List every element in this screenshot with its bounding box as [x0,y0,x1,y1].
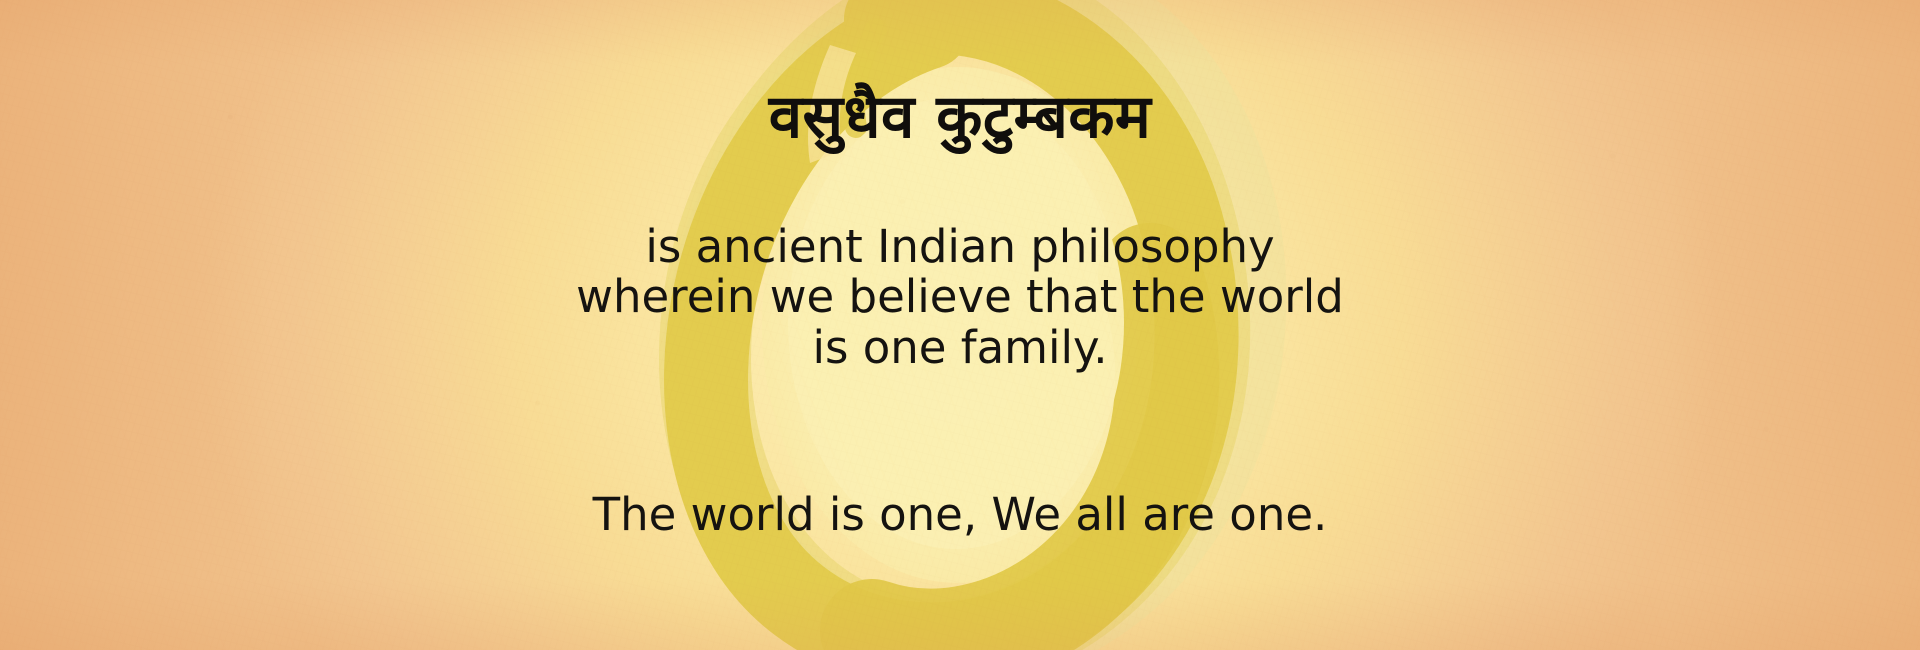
philosophy-line-1: is ancient Indian philosophy [0,222,1920,272]
vasudhaiva-kutumbakam-banner: वसुधैव कुटुम्बकम is ancient Indian philo… [0,0,1920,650]
philosophy-line-3: is one family. [0,323,1920,373]
philosophy-paragraph: is ancient Indian philosophy wherein we … [0,222,1920,373]
philosophy-line-2: wherein we believe that the world [0,272,1920,322]
banner-content: वसुधैव कुटुम्बकम is ancient Indian philo… [0,0,1920,650]
tagline-text: The world is one, We all are one. [0,490,1920,540]
sanskrit-heading: वसुधैव कुटुम्बकम [0,86,1920,149]
